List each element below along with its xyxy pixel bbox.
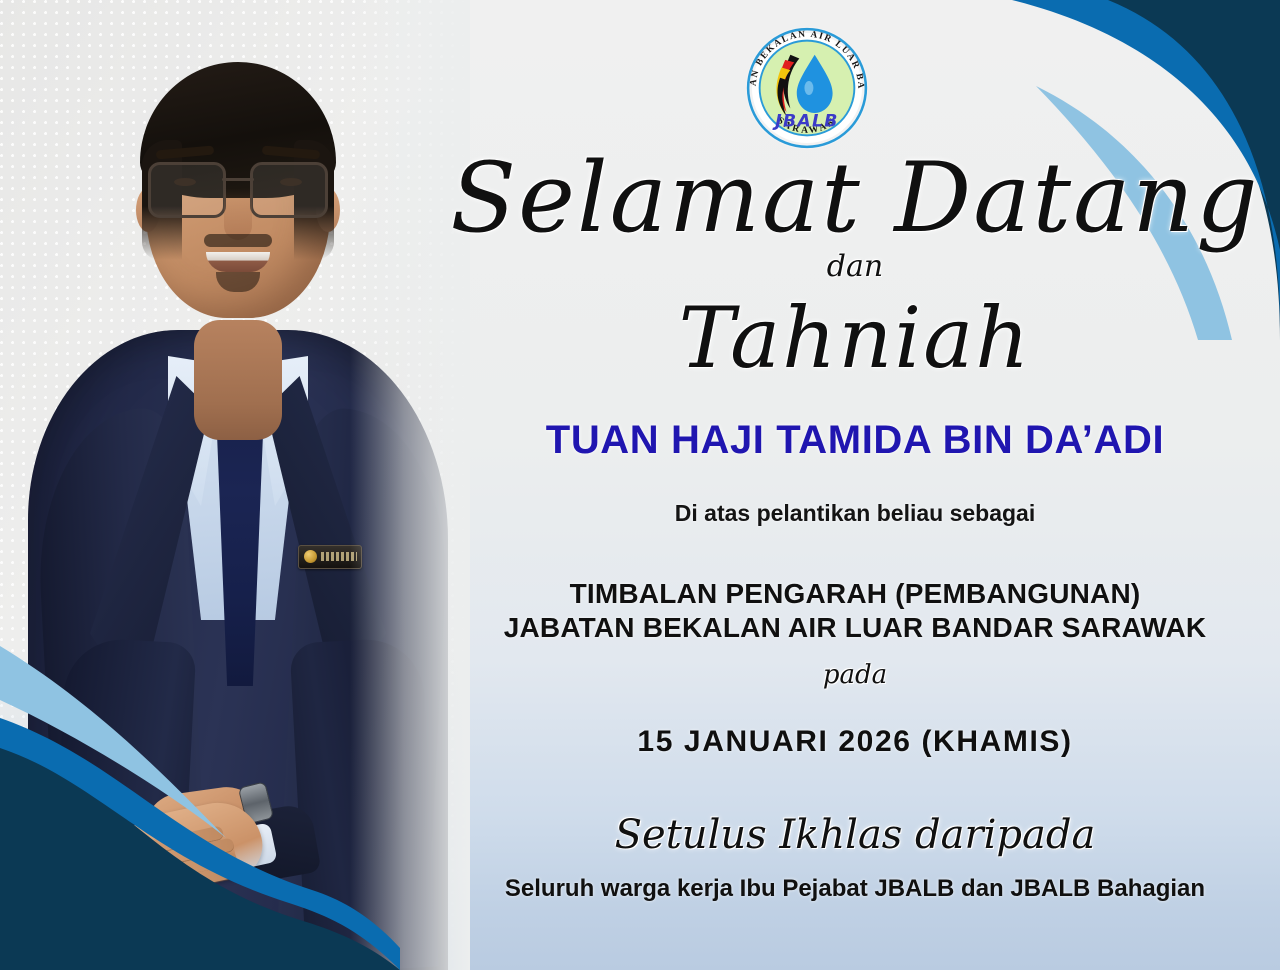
glasses-bridge: [222, 178, 254, 181]
date-preposition: pada: [430, 660, 1280, 690]
position-line-2: JABATAN BEKALAN AIR LUAR BANDAR SARAWAK: [430, 612, 1280, 644]
lens-left: [148, 162, 226, 218]
mouth: [206, 252, 270, 272]
poster-text-block: Selamat Datang dan Tahniah TUAN HAJI TAM…: [430, 0, 1280, 970]
badge-crest-icon: [304, 550, 317, 563]
sender-text: Seluruh warga kerja Ibu Pejabat JBALB da…: [430, 875, 1280, 903]
event-date: 15 JANUARI 2026 (KHAMIS): [430, 725, 1280, 759]
honoree-portrait: [0, 0, 470, 970]
lens-right: [250, 162, 328, 218]
appointment-reason: Di atas pelantikan beliau sebagai: [430, 500, 1280, 527]
nose: [224, 188, 252, 240]
congratulations-heading: Tahniah: [430, 296, 1280, 380]
position-line-1: TIMBALAN PENGARAH (PEMBANGUNAN): [430, 578, 1280, 610]
moustache: [204, 234, 272, 247]
neck: [194, 320, 282, 440]
greeting-heading: Selamat Datang: [430, 150, 1280, 246]
announcement-poster: JABATAN BEKALAN AIR LUAR BANDAR SARAWAK …: [0, 0, 1280, 970]
sincerely-text: Setulus Ikhlas daripada: [430, 812, 1280, 858]
connector-text: dan: [430, 252, 1280, 282]
honoree-name: TUAN HAJI TAMIDA BIN DA’ADI: [430, 418, 1280, 463]
